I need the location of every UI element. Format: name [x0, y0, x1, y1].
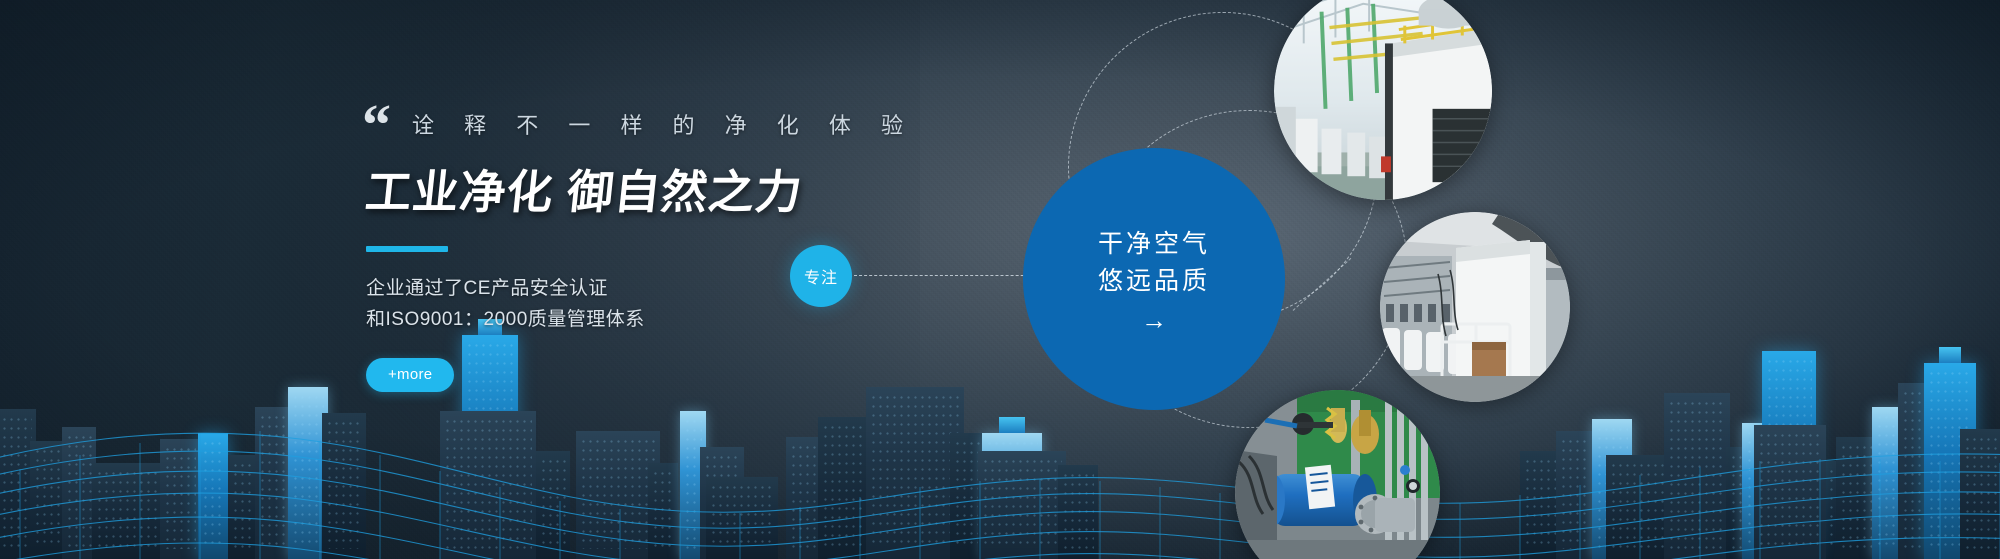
quote-mark-icon: “	[362, 96, 388, 154]
photo-textile-spinning-machines[interactable]	[1380, 212, 1570, 402]
main-feature-circle[interactable]: 干净空气 悠远品质 →	[1023, 148, 1285, 410]
more-button[interactable]: +more	[366, 358, 454, 392]
focus-node-circle[interactable]: 专注	[790, 245, 852, 307]
wireframe-terrain	[0, 383, 2000, 559]
focus-node-label: 专注	[804, 264, 838, 288]
hero-banner: “ 诠 释 不 一 样 的 净 化 体 验 工业净化 御自然之力 企业通过了CE…	[0, 0, 2000, 559]
subtitle-line-1: 企业通过了CE产品安全认证	[366, 274, 1006, 305]
main-circle-line-1: 干净空气	[1098, 226, 1210, 264]
hero-text-block: “ 诠 释 不 一 样 的 净 化 体 验 工业净化 御自然之力 企业通过了CE…	[366, 108, 1006, 392]
arrow-right-icon: →	[1141, 307, 1167, 333]
main-circle-line-2: 悠远品质	[1098, 263, 1210, 301]
hero-tagline: 诠 释 不 一 样 的 净 化 体 验	[412, 108, 1006, 140]
hero-subtitle: 企业通过了CE产品安全认证 和ISO9001：2000质量管理体系	[366, 274, 1006, 336]
subtitle-line-2: 和ISO9001：2000质量管理体系	[366, 305, 1006, 336]
hero-headline: 工业净化 御自然之力	[363, 156, 1010, 222]
accent-divider	[366, 246, 448, 252]
